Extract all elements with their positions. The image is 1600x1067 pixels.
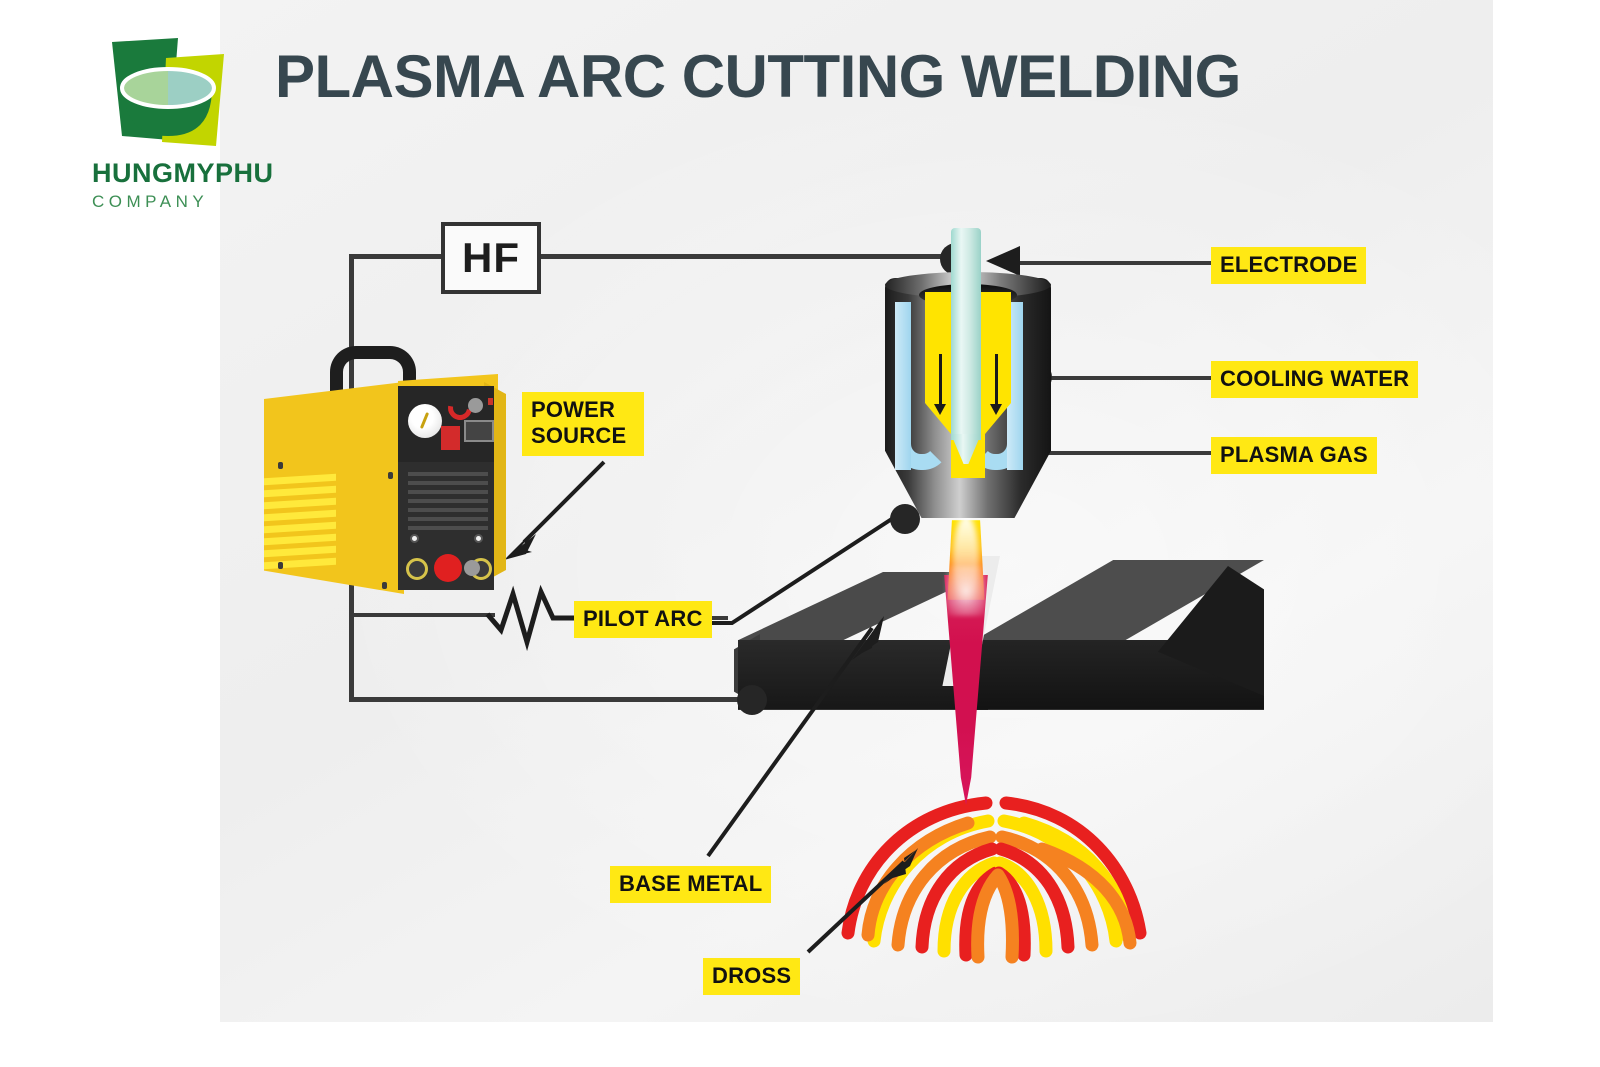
label-power-source-line1: POWER [531,397,635,423]
power-button[interactable] [434,554,462,582]
leader-power-source [496,456,616,569]
status-led-icon [488,398,493,405]
label-dross: DROSS [703,958,800,995]
hf-label: HF [462,234,520,282]
label-pilot-arc: PILOT ARC [574,601,712,638]
leader-base-metal [700,612,900,867]
wire-work-return [349,697,757,702]
brand-block: HUNGMYPHU COMPANY [92,28,302,210]
machine-control-panel [398,386,494,590]
plasma-torch [873,228,1063,538]
brand-subtitle: COMPANY [92,193,302,210]
machine-screw [278,462,283,469]
diagram-canvas: HUNGMYPHU COMPANY PLASMA ARC CUTTING WEL… [0,0,1600,1067]
machine-display [464,420,494,442]
wire-cooling-water-label [1040,376,1212,380]
brand-name: HUNGMYPHU [92,160,302,187]
machine-side-vents [264,476,336,572]
label-power-source-line2: SOURCE [531,423,635,449]
label-plasma-gas: PLASMA GAS [1211,437,1377,474]
torch-center-electrode [951,228,981,440]
indicator-dot [410,534,419,543]
machine-screw [278,562,283,569]
bowl-logo-icon [100,28,232,146]
red-switch[interactable] [441,426,460,450]
gas-port[interactable] [464,560,480,576]
machine-screw [382,582,387,589]
wire-pilot-left [349,613,495,617]
machine-connectors [404,546,494,586]
gas-flow-arrow-left [939,354,942,406]
machine-front-vents [408,472,488,534]
page-title: PLASMA ARC CUTTING WELDING [275,42,1435,111]
pressure-gauge-icon [408,404,442,438]
hf-box: HF [441,222,541,294]
control-knob[interactable] [468,398,483,413]
welding-power-supply-unit [258,346,513,608]
node-workpiece [737,685,767,715]
label-base-metal: BASE METAL [610,866,771,903]
wire-hf-left [349,254,441,259]
indicator-dot [474,534,483,543]
label-cooling-water: COOLING WATER [1211,361,1418,398]
leader-dross [800,840,930,965]
gas-flow-arrow-right [995,354,998,406]
machine-screw [388,472,393,479]
label-power-source: POWER SOURCE [522,392,644,456]
label-electrode: ELECTRODE [1211,247,1366,284]
output-socket-negative[interactable] [406,558,428,580]
